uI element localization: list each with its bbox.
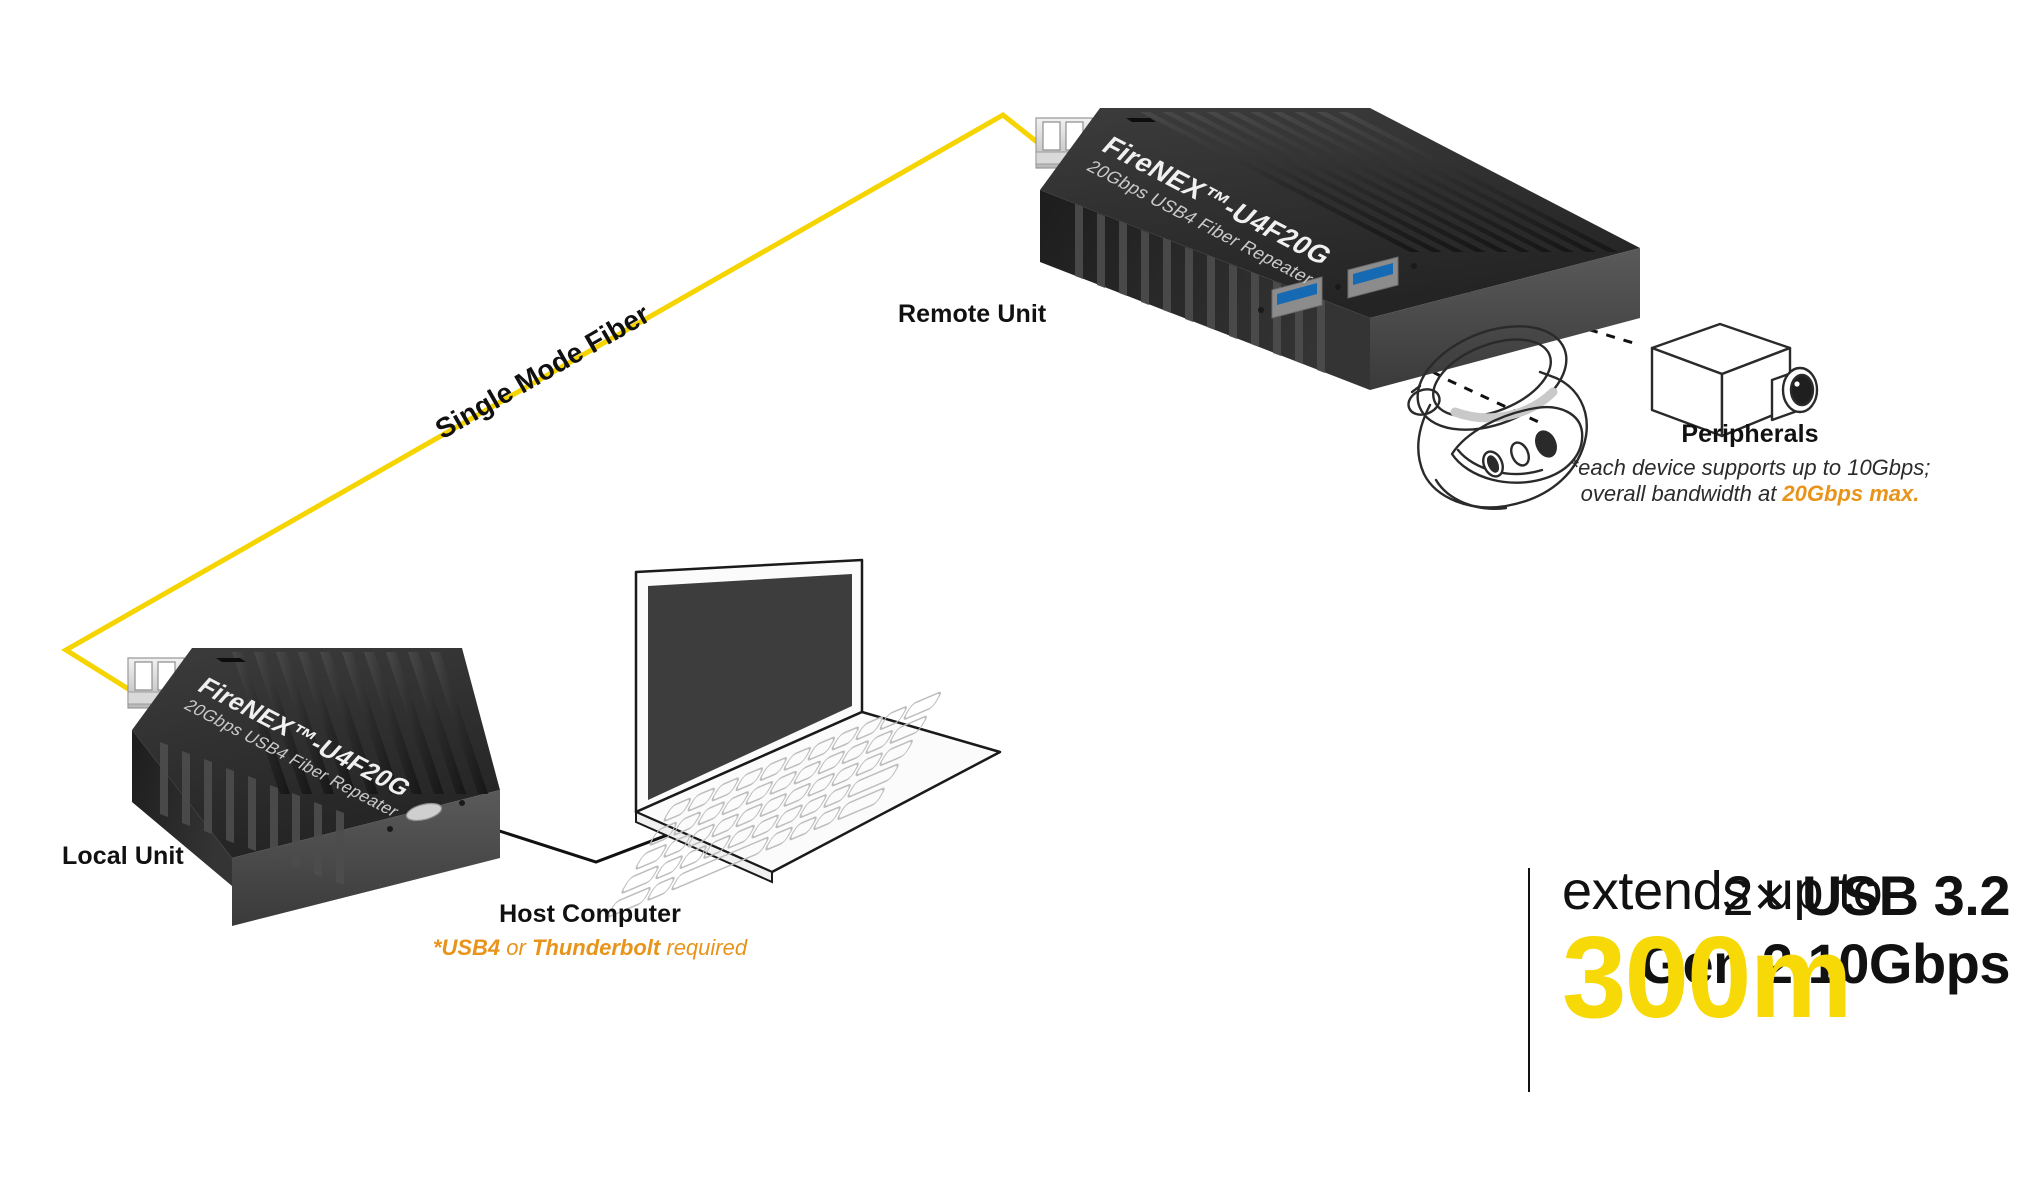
host-computer-label: Host Computer xyxy=(380,900,800,929)
peripherals-note-line1: *each device supports up to 10Gbps; xyxy=(1530,455,1970,481)
host-note-required: required xyxy=(660,935,747,960)
peripherals-note-prefix: overall bandwidth at xyxy=(1581,481,1783,506)
peripherals-note-line2: overall bandwidth at 20Gbps max. xyxy=(1530,481,1970,507)
peripherals-label: Peripherals xyxy=(1530,420,1970,449)
marketing-callout: 2× USB 3.2 Gen 2 10Gbps extends up to 30… xyxy=(1110,862,2010,1102)
callout-divider xyxy=(1528,868,1530,1092)
host-computer-caption: Host Computer *USB4 or Thunderbolt requi… xyxy=(380,900,800,961)
host-note-or: or xyxy=(500,935,532,960)
local-unit-label: Local Unit xyxy=(62,842,184,871)
peripherals-caption: Peripherals *each device supports up to … xyxy=(1530,420,1970,507)
host-note-usb4: USB4 xyxy=(441,935,500,960)
distance-block: extends up to 300m xyxy=(1562,862,1882,1033)
remote-unit-label: Remote Unit xyxy=(898,300,1046,329)
host-note-thunderbolt: Thunderbolt xyxy=(532,935,660,960)
host-computer-note: *USB4 or Thunderbolt required xyxy=(380,935,800,961)
distance-value: 300m xyxy=(1562,922,1882,1032)
diagram-canvas: FireNEX™-U4F20G 20Gbps USB4 Fiber Repeat… xyxy=(0,0,2032,1181)
peripherals-note-accent: 20Gbps max. xyxy=(1782,481,1919,506)
